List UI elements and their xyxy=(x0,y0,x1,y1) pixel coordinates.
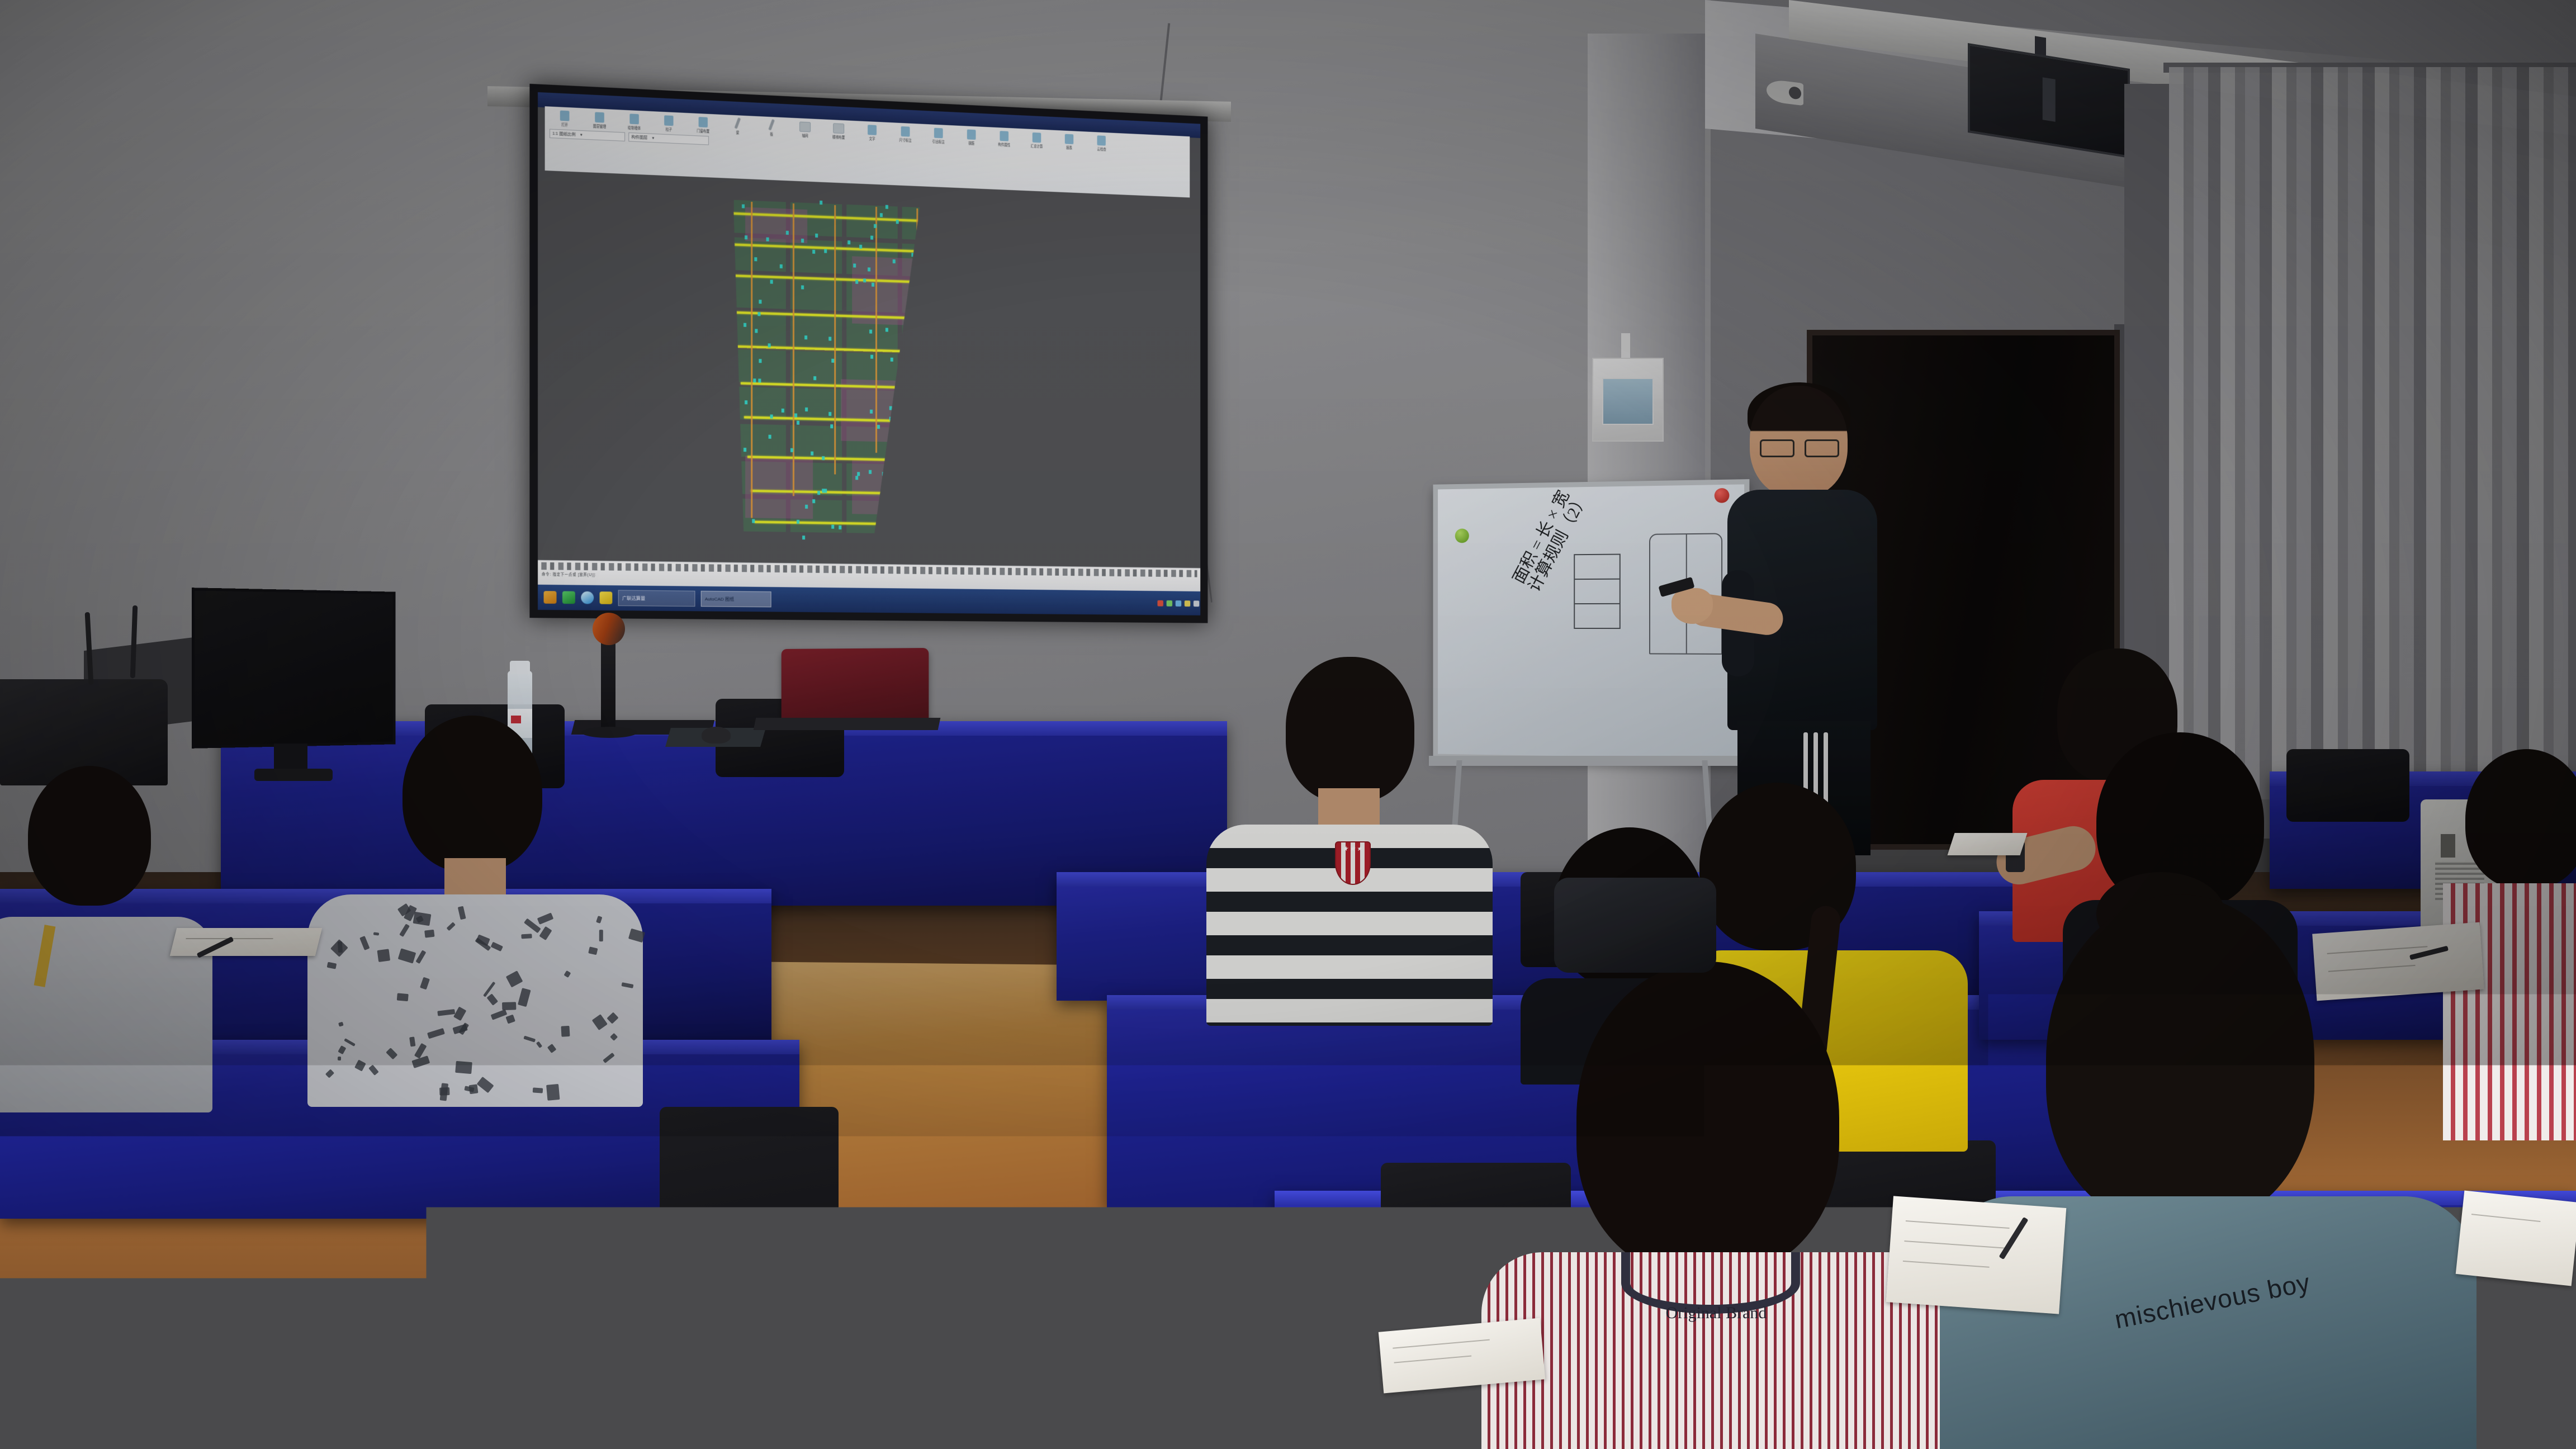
plan-annotation xyxy=(831,359,834,363)
text-icon xyxy=(868,125,877,135)
splatter-mark xyxy=(547,1044,556,1053)
plan-annotation xyxy=(911,253,914,257)
plan-axis-v xyxy=(916,209,918,432)
splatter-mark xyxy=(476,934,490,946)
plan-annotation xyxy=(770,414,773,418)
ribbon-button-4[interactable]: 门窗布置 xyxy=(687,116,719,135)
splatter-mark xyxy=(359,936,370,950)
plan-slab xyxy=(734,424,786,458)
student-striped-head xyxy=(1286,657,1414,802)
plan-annotation xyxy=(855,280,858,284)
splatter-mark xyxy=(427,1027,445,1039)
paper-sheet-5[interactable] xyxy=(2312,922,2484,1001)
student-pinstripe-head xyxy=(1576,962,1839,1275)
plan-annotation xyxy=(752,519,755,523)
scale-combo[interactable]: 1:1 图纸比例▾ xyxy=(550,129,625,141)
browser-icon[interactable] xyxy=(581,591,594,604)
ribbon-button-15[interactable]: 报表 xyxy=(1054,134,1085,151)
plan-zone xyxy=(841,379,907,442)
ribbon-button-label: 尺寸标注 xyxy=(899,138,911,144)
splatter-mark xyxy=(420,977,430,989)
plan-zone xyxy=(745,207,807,244)
whiteboard-table-sketch xyxy=(1574,554,1621,629)
leader-icon xyxy=(934,128,943,139)
splatter-mark xyxy=(447,922,456,931)
ribbon-button-16[interactable]: 云检查 xyxy=(1086,135,1116,153)
paper-sheet-4[interactable] xyxy=(1886,1196,2066,1314)
ribbon-button-label: 钢筋 xyxy=(968,140,974,146)
ribbon-button-0[interactable]: 打开 xyxy=(548,110,581,129)
plan-annotation xyxy=(896,220,898,224)
projection-screen: 打开图层管理绘制墙体柱子门窗布置梁板轴网楼梯布置文字尺寸标注引出标注钢筋构件属性… xyxy=(529,84,1207,623)
plan-annotation xyxy=(806,408,808,411)
splatter-mark xyxy=(409,1036,416,1047)
plan-annotation xyxy=(871,236,874,240)
plan-annotation xyxy=(769,435,771,439)
ribbon-button-label: 门窗布置 xyxy=(697,128,709,134)
plan-annotation xyxy=(921,382,924,386)
plan-annotation xyxy=(831,525,834,529)
layer-combo[interactable]: 构件图层▾ xyxy=(628,132,709,145)
ribbon-button-label: 梁 xyxy=(736,130,739,135)
splatter-mark xyxy=(596,916,602,924)
beam-icon xyxy=(734,117,741,129)
plan-annotation xyxy=(830,424,833,428)
splatter-mark xyxy=(518,988,531,1007)
backpack xyxy=(1554,878,1716,973)
plan-annotation xyxy=(828,337,831,340)
taskbar-window-1[interactable]: 广联达算量 xyxy=(618,590,695,607)
plan-slab xyxy=(902,354,953,387)
plan-annotation xyxy=(882,472,885,476)
plan-zone xyxy=(745,456,813,519)
splatter-mark xyxy=(521,934,532,939)
plan-annotation xyxy=(782,409,784,413)
splatter-mark xyxy=(589,947,598,955)
ribbon-button-label: 轴网 xyxy=(802,133,808,139)
open-file-icon xyxy=(560,111,570,121)
ribbon-button-label: 楼梯布置 xyxy=(832,134,845,140)
plan-annotation xyxy=(820,201,822,205)
plan-annotation xyxy=(770,280,773,283)
splatter-mark xyxy=(438,1010,456,1016)
splatter-mark xyxy=(563,970,571,978)
plan-annotation xyxy=(766,238,769,241)
splatter-mark xyxy=(398,949,416,964)
plan-annotation xyxy=(802,536,805,539)
rebar-icon xyxy=(967,129,976,140)
splatter-mark xyxy=(539,926,552,940)
network-icon[interactable] xyxy=(1176,600,1181,607)
volume-icon[interactable] xyxy=(1167,600,1172,606)
plan-annotation xyxy=(759,359,761,363)
plan-axis-v xyxy=(875,207,877,453)
ribbon-button-12[interactable]: 钢筋 xyxy=(956,129,987,147)
ribbon-button-label: 引出标注 xyxy=(932,139,945,145)
splatter-mark xyxy=(373,932,379,935)
splatter-mark xyxy=(424,930,434,938)
plan-annotation xyxy=(730,227,733,231)
paper-sheet-1[interactable] xyxy=(170,928,322,956)
plan-annotation xyxy=(790,448,793,452)
plan-slab xyxy=(734,237,786,272)
pinstripe-shirt-text: Original Brand xyxy=(1632,1304,1800,1323)
splatter-mark xyxy=(603,1052,615,1063)
plan-annotation xyxy=(812,499,815,503)
plan-slab xyxy=(902,317,953,351)
plan-annotation xyxy=(885,328,888,332)
splatter-mark xyxy=(610,1033,618,1041)
splatter-mark xyxy=(338,1022,343,1027)
plan-annotation xyxy=(801,239,804,243)
report-icon xyxy=(1065,134,1073,144)
splatter-mark xyxy=(536,1041,542,1049)
splatter-mark xyxy=(533,1087,543,1093)
plan-slab xyxy=(902,501,953,534)
plan-annotation xyxy=(755,257,757,261)
ribbon-button-label: 打开 xyxy=(561,122,568,128)
splatter-mark xyxy=(416,950,427,964)
ribbon-button-11[interactable]: 引出标注 xyxy=(923,127,954,145)
student-splatter-tee xyxy=(296,716,654,1107)
plan-annotation xyxy=(786,231,789,235)
plan-annotation xyxy=(728,529,731,533)
plan-annotation xyxy=(759,379,761,383)
plan-annotation xyxy=(801,285,804,289)
classroom-scene: 打开图层管理绘制墙体柱子门窗布置梁板轴网楼梯布置文字尺寸标注引出标注钢筋构件属性… xyxy=(0,0,2576,1449)
splatter-mark xyxy=(546,1084,560,1101)
plan-annotation xyxy=(870,355,873,359)
sogou-input-icon[interactable] xyxy=(1157,600,1163,606)
plan-annotation xyxy=(896,439,899,443)
ribbon-button-7[interactable]: 轴网 xyxy=(789,121,821,140)
panel-display xyxy=(1602,378,1654,425)
element-icon xyxy=(1000,131,1008,141)
ribbon-button-3[interactable]: 柱子 xyxy=(653,115,685,133)
plan-annotation xyxy=(868,268,870,272)
plan-annotation xyxy=(730,283,732,287)
student-far-right-head xyxy=(2465,749,2576,889)
plan-annotation xyxy=(855,476,858,480)
plan-annotation xyxy=(872,283,874,287)
chair-7 xyxy=(660,1107,839,1375)
ribbon-button-6[interactable]: 板 xyxy=(755,119,787,138)
splatter-mark xyxy=(607,1012,618,1024)
plan-annotation xyxy=(869,329,872,333)
plan-annotation xyxy=(723,266,726,270)
plan-annotation xyxy=(726,472,728,476)
ribbon-button-label: 图层管理 xyxy=(593,124,606,130)
file-explorer-icon[interactable] xyxy=(544,591,557,604)
splatter-mark xyxy=(506,970,523,987)
plan-annotation xyxy=(753,378,756,382)
slab-icon xyxy=(768,119,775,131)
splatter-mark xyxy=(622,982,633,988)
plan-annotation xyxy=(815,234,818,238)
student-grey-tee-head xyxy=(28,766,151,906)
plan-annotation xyxy=(885,205,888,209)
door-window-icon xyxy=(699,117,708,127)
ribbon-button-label: 板 xyxy=(770,131,773,137)
plan-annotation xyxy=(889,417,892,421)
plan-slab xyxy=(902,428,953,461)
plan-annotation xyxy=(839,525,841,529)
plan-annotation xyxy=(744,448,746,452)
student-striped-shirt: ★★★ xyxy=(1202,657,1498,1015)
green-magnet[interactable] xyxy=(1455,528,1469,543)
splatter-mark xyxy=(338,1045,346,1055)
splatter-mark xyxy=(453,1007,466,1021)
dim-line-icon xyxy=(901,126,910,137)
splatter-mark xyxy=(561,1026,570,1036)
bottle-cap xyxy=(510,661,530,674)
plan-annotation xyxy=(723,394,726,398)
splatter-mark xyxy=(455,1061,472,1074)
splatter-mark xyxy=(325,1069,334,1078)
student-teal-head xyxy=(2046,894,2314,1224)
plan-annotation xyxy=(863,278,866,282)
plan-zone xyxy=(852,458,924,515)
plan-annotation xyxy=(854,264,856,268)
splatter-mark xyxy=(458,906,466,920)
ribbon-button-8[interactable]: 楼梯布置 xyxy=(823,122,854,141)
layer-combo-label: 构件图层 xyxy=(631,134,647,140)
splatter-mark xyxy=(386,1048,398,1060)
plan-annotation xyxy=(797,520,799,524)
splatter-mark xyxy=(487,993,498,1005)
ribbon-button-label: 汇总计算 xyxy=(1031,144,1043,150)
plan-annotation xyxy=(745,400,747,404)
plan-annotation xyxy=(740,507,742,511)
scale-combo-label: 1:1 图纸比例 xyxy=(552,131,575,138)
taskbar-window-2[interactable]: AutoCAD 图纸 xyxy=(701,591,771,607)
splatter-mark xyxy=(330,939,348,957)
plan-axis-v xyxy=(793,203,794,496)
splatter-mark xyxy=(490,942,503,951)
plan-annotation xyxy=(822,456,825,460)
plan-slab xyxy=(734,386,786,420)
ribbon-button-14[interactable]: 汇总计算 xyxy=(1021,132,1052,150)
splatter-mark xyxy=(476,1077,494,1093)
notes-icon[interactable] xyxy=(600,591,613,604)
eyeglasses-icon xyxy=(1760,439,1839,454)
plan-annotation xyxy=(768,344,771,348)
plan-slab xyxy=(902,391,953,424)
panel-conduit xyxy=(1621,333,1630,360)
plan-slab xyxy=(902,207,953,241)
wechat-icon[interactable] xyxy=(562,591,575,604)
plan-slab xyxy=(902,281,953,315)
splatter-mark xyxy=(628,929,646,943)
plan-annotation xyxy=(757,312,760,316)
laptop[interactable] xyxy=(782,648,929,722)
plan-annotation xyxy=(893,259,896,263)
cad-drawing-canvas[interactable] xyxy=(538,171,1200,569)
plan-slab xyxy=(846,205,897,239)
grid-icon xyxy=(799,121,811,132)
ribbon-button-9[interactable]: 文字 xyxy=(856,124,888,143)
splatter-mark xyxy=(397,993,409,1002)
plan-slab xyxy=(734,349,786,383)
splatter-mark xyxy=(354,1059,366,1071)
splatter-mark xyxy=(459,1022,470,1035)
plan-annotation xyxy=(730,238,733,242)
plan-annotation xyxy=(742,204,745,208)
plan-annotation xyxy=(898,522,901,525)
plan-slab xyxy=(734,312,786,346)
splatter-mark xyxy=(483,982,495,997)
ribbon-button-5[interactable]: 梁 xyxy=(721,117,753,136)
plan-annotation xyxy=(744,323,746,327)
ribbon-button-label: 报表 xyxy=(1066,145,1072,150)
plan-annotation xyxy=(805,505,808,509)
paper-sheet-2[interactable] xyxy=(78,1386,296,1449)
splatter-mark xyxy=(338,1057,342,1061)
splatter-mark xyxy=(344,1038,356,1046)
layer-icon xyxy=(595,112,604,122)
plan-annotation xyxy=(880,213,883,217)
splatter-mark xyxy=(490,1009,507,1020)
plan-annotation xyxy=(759,300,762,304)
plan-annotation xyxy=(731,281,733,285)
plan-axis-v xyxy=(834,205,836,475)
system-tray[interactable] xyxy=(1157,600,1200,607)
splatter-mark xyxy=(326,962,337,969)
plan-slab xyxy=(902,465,953,498)
stair-icon xyxy=(833,123,844,134)
ribbon-button-1[interactable]: 图层管理 xyxy=(583,111,615,130)
shield-crest-badge-icon: ★★★ xyxy=(1335,841,1371,885)
plan-annotation xyxy=(814,376,817,380)
student-splatter-torso xyxy=(307,894,643,1107)
plan-annotation xyxy=(828,412,831,416)
splatter-mark xyxy=(599,930,603,941)
plan-annotation xyxy=(877,425,880,429)
splatter-mark xyxy=(412,1056,430,1068)
laptop-base xyxy=(754,718,941,730)
ribbon-button-label: 云检查 xyxy=(1097,146,1106,153)
battery-icon[interactable] xyxy=(1185,600,1190,607)
plan-annotation xyxy=(891,358,893,362)
paper-sheet-7[interactable] xyxy=(1948,833,2028,855)
splatter-mark xyxy=(439,1087,449,1096)
wall-icon xyxy=(629,113,639,124)
splatter-mark xyxy=(413,912,430,926)
plan-annotation xyxy=(812,250,815,254)
plan-annotation xyxy=(869,470,872,474)
plan-annotation xyxy=(811,452,813,456)
calc-icon xyxy=(1033,132,1041,143)
chair-6 xyxy=(2286,749,2409,822)
instructor xyxy=(1666,386,1906,850)
mouse-icon[interactable] xyxy=(702,727,731,744)
ribbon-button-label: 绘制墙体 xyxy=(628,125,641,131)
plan-annotation xyxy=(805,335,808,339)
badge-stars: ★★★ xyxy=(1336,845,1370,853)
plan-annotation xyxy=(921,339,924,343)
plan-annotation xyxy=(847,240,850,244)
plan-annotation xyxy=(794,414,797,418)
splatter-mark xyxy=(537,912,554,924)
student-splatter-head xyxy=(402,716,542,872)
ribbon-button-label: 文字 xyxy=(869,136,875,142)
wall-control-panel[interactable] xyxy=(1592,358,1664,442)
plan-annotation xyxy=(910,410,913,414)
plan-annotation xyxy=(755,329,758,333)
splatter-mark xyxy=(592,1014,608,1030)
plan-annotation xyxy=(818,491,821,495)
splatter-mark xyxy=(523,1035,536,1042)
paper-sheet-6[interactable] xyxy=(2456,1191,2576,1286)
plan-annotation xyxy=(870,410,873,414)
plan-axis-v xyxy=(751,202,752,518)
ribbon-button-label: 柱子 xyxy=(666,127,672,133)
column-icon xyxy=(664,115,673,126)
splatter-mark xyxy=(399,924,410,937)
plan-annotation xyxy=(859,245,862,249)
cad-floor-plan xyxy=(711,189,979,544)
plan-annotation xyxy=(797,421,799,425)
plan-annotation xyxy=(822,489,825,493)
plan-annotation xyxy=(909,368,912,372)
check-icon xyxy=(1097,135,1106,145)
plan-annotation xyxy=(910,282,913,286)
ribbon-button-label: 构件属性 xyxy=(998,142,1010,148)
ribbon-button-10[interactable]: 尺寸标注 xyxy=(890,126,921,144)
splatter-mark xyxy=(368,1064,378,1075)
ribbon-button-13[interactable]: 构件属性 xyxy=(989,130,1020,148)
plan-annotation xyxy=(824,249,827,253)
plan-annotation xyxy=(889,406,892,410)
splatter-mark xyxy=(377,949,390,962)
plan-annotation xyxy=(745,236,747,240)
projected-desktop: 打开图层管理绘制墙体柱子门窗布置梁板轴网楼梯布置文字尺寸标注引出标注钢筋构件属性… xyxy=(538,92,1200,615)
plan-annotation xyxy=(779,264,782,268)
ribbon-button-2[interactable]: 绘制墙体 xyxy=(618,113,651,131)
plan-annotation xyxy=(874,224,877,228)
splatter-mark xyxy=(506,1014,515,1023)
clock-icon[interactable] xyxy=(1194,600,1199,607)
instructor-hand xyxy=(1671,588,1713,624)
